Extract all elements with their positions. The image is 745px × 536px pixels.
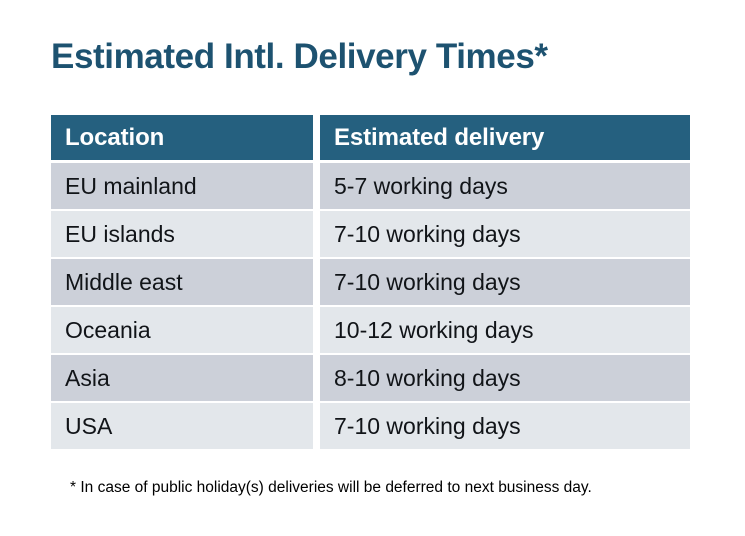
cell-location: USA: [51, 403, 313, 449]
table-row: EU islands 7-10 working days: [51, 211, 690, 257]
column-divider: [313, 211, 320, 257]
table-header-row: Location Estimated delivery: [51, 115, 690, 160]
cell-estimated-delivery: 5-7 working days: [320, 163, 690, 209]
table-row: Middle east 7-10 working days: [51, 259, 690, 305]
cell-location: Middle east: [51, 259, 313, 305]
cell-estimated-delivery: 10-12 working days: [320, 307, 690, 353]
cell-estimated-delivery: 7-10 working days: [320, 211, 690, 257]
cell-location: EU islands: [51, 211, 313, 257]
cell-estimated-delivery: 7-10 working days: [320, 259, 690, 305]
column-divider: [313, 355, 320, 401]
delivery-times-table: Location Estimated delivery EU mainland …: [51, 115, 690, 451]
cell-estimated-delivery: 7-10 working days: [320, 403, 690, 449]
cell-location: EU mainland: [51, 163, 313, 209]
table-row: EU mainland 5-7 working days: [51, 163, 690, 209]
table-row: Oceania 10-12 working days: [51, 307, 690, 353]
column-divider: [313, 307, 320, 353]
column-divider: [313, 163, 320, 209]
column-header-estimated-delivery: Estimated delivery: [320, 115, 690, 160]
column-divider: [313, 259, 320, 305]
page-title: Estimated Intl. Delivery Times*: [51, 36, 548, 78]
column-header-location: Location: [51, 115, 313, 160]
table-row: Asia 8-10 working days: [51, 355, 690, 401]
cell-location: Asia: [51, 355, 313, 401]
column-divider: [313, 403, 320, 449]
column-divider: [313, 115, 320, 160]
delivery-times-page: Estimated Intl. Delivery Times* Location…: [0, 0, 745, 536]
cell-location: Oceania: [51, 307, 313, 353]
table-row: USA 7-10 working days: [51, 403, 690, 449]
footnote-text: * In case of public holiday(s) deliverie…: [70, 478, 592, 498]
cell-estimated-delivery: 8-10 working days: [320, 355, 690, 401]
